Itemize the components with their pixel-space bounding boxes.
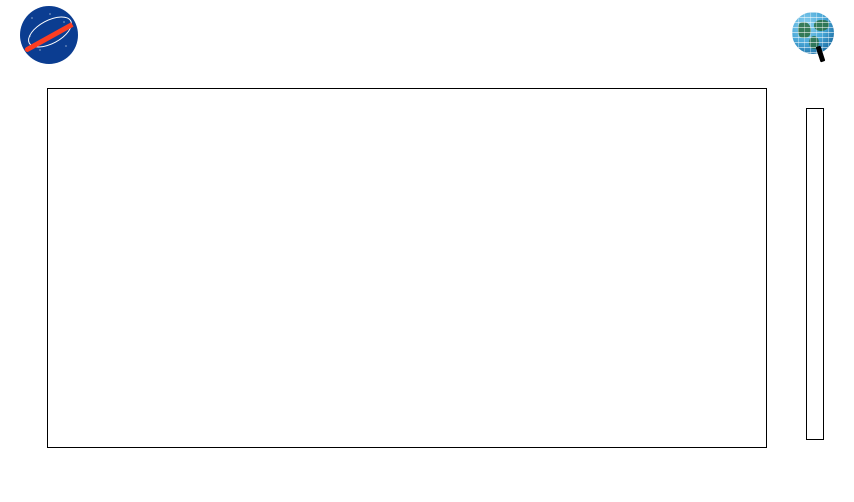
map-plot[interactable] [47,88,767,448]
nasa-meatball-icon [20,6,78,64]
nasa-logo [12,6,86,80]
x-axis [47,448,767,476]
page-header [0,0,854,88]
globe-icon [792,12,834,54]
brightness-temperature-map[interactable] [47,88,767,448]
y-axis [0,88,42,448]
colorbar-gradient [806,108,824,440]
colorbar [770,86,854,461]
ghrc-logo [684,6,844,78]
